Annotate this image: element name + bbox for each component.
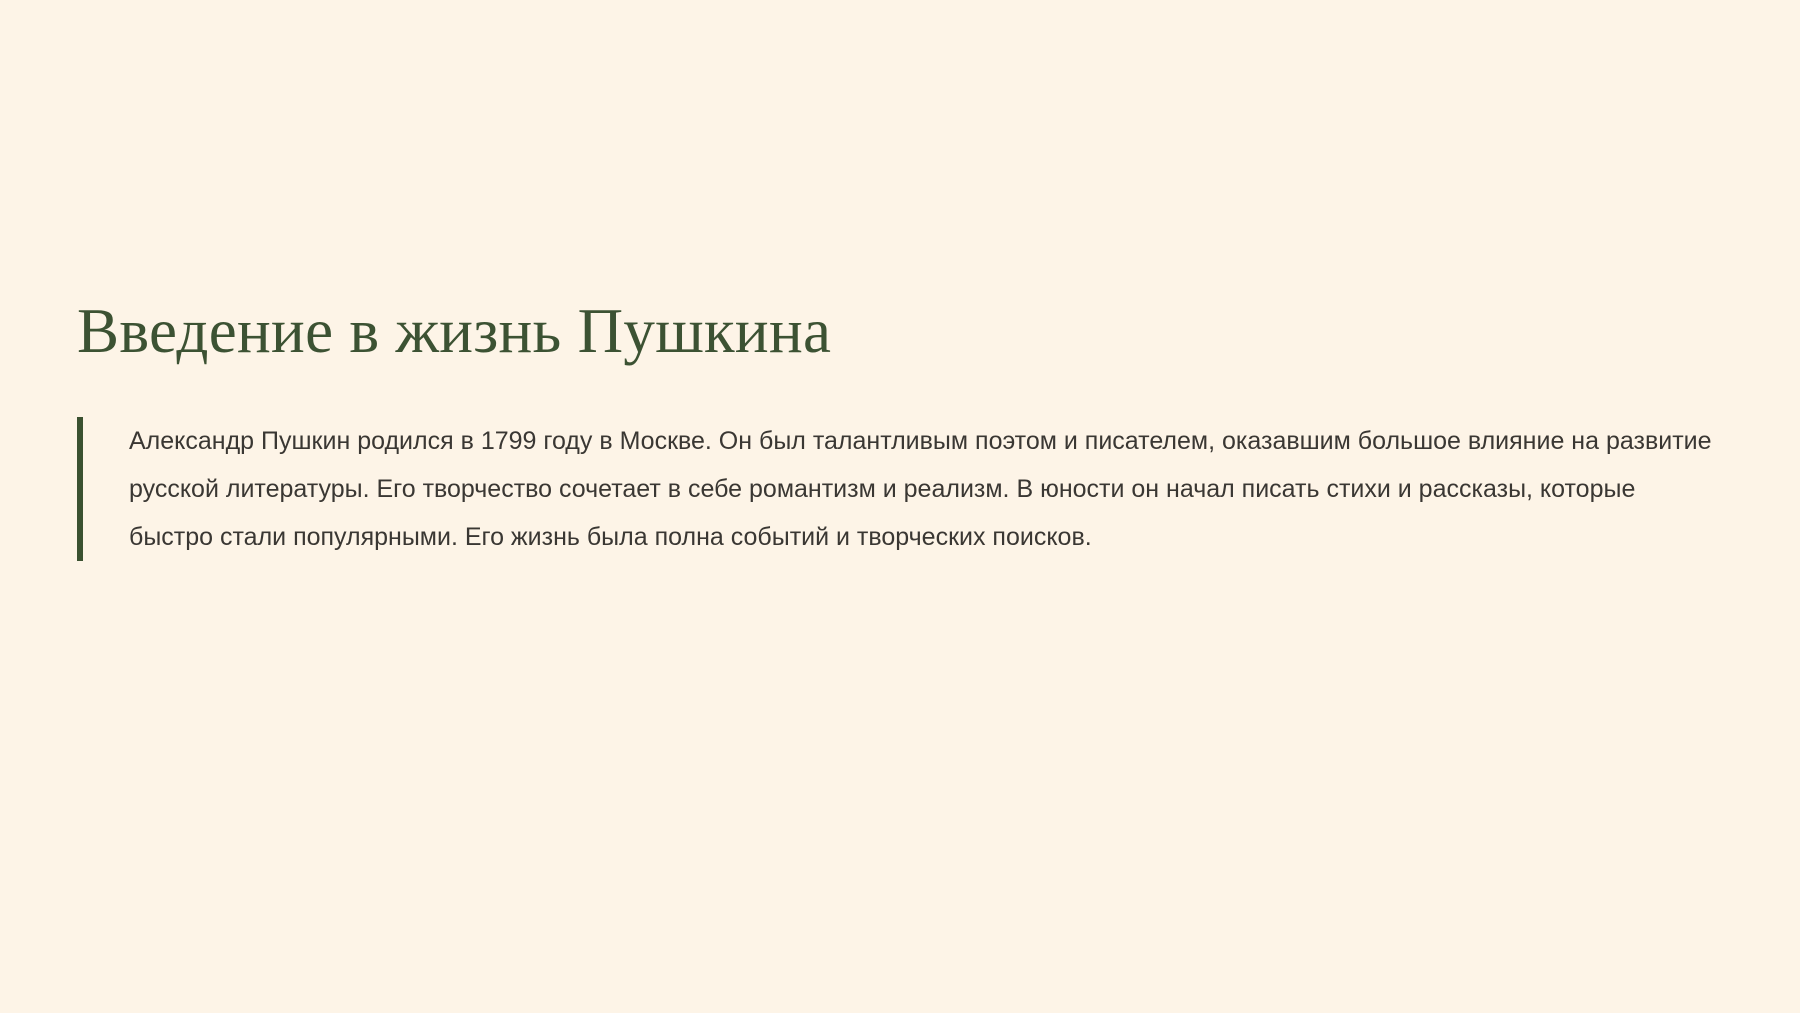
document-page: Введение в жизнь Пушкина Александр Пушки…	[0, 0, 1800, 1013]
article-content: Введение в жизнь Пушкина Александр Пушки…	[77, 296, 1727, 561]
accent-bar	[77, 417, 83, 561]
article-body-text: Александр Пушкин родился в 1799 году в М…	[129, 417, 1725, 561]
highlighted-paragraph-block: Александр Пушкин родился в 1799 году в М…	[77, 417, 1727, 561]
page-title: Введение в жизнь Пушкина	[77, 296, 1727, 367]
